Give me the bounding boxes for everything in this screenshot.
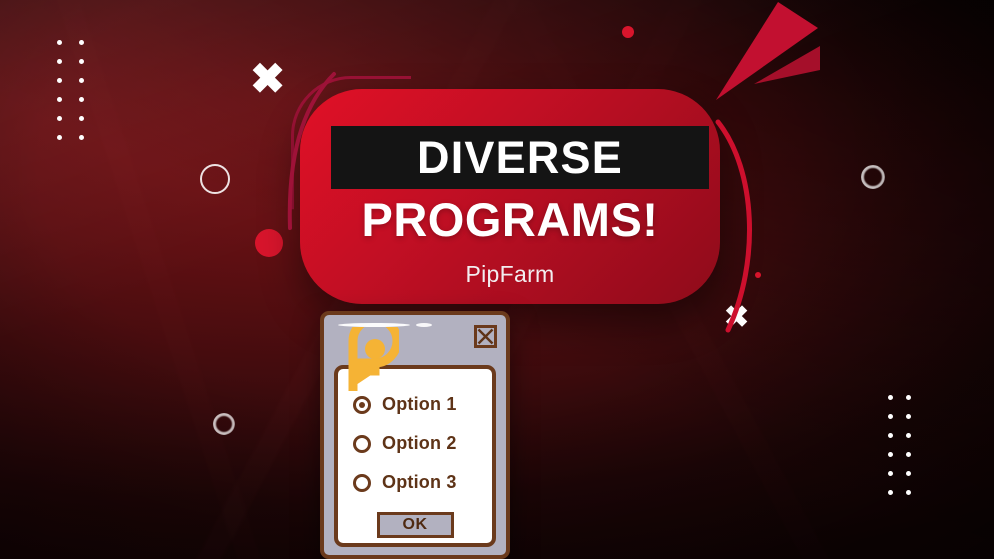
dialog-body: Option 1 Option 2 Option 3 OK [334, 365, 496, 547]
radio-label-option-1: Option 1 [382, 394, 457, 415]
radio-option-1[interactable]: Option 1 [338, 385, 492, 424]
headline-line2: PROGRAMS! [300, 196, 720, 243]
radio-icon-option-1[interactable] [353, 396, 371, 414]
options-dialog: Option 1 Option 2 Option 3 OK [320, 311, 510, 559]
brush-ring-left [213, 413, 235, 435]
circle-outline-decoration [200, 164, 230, 194]
close-button[interactable] [474, 325, 497, 348]
radio-option-3[interactable]: Option 3 [338, 463, 492, 502]
card-arc-right [712, 112, 772, 342]
headline-line1: DIVERSE [417, 132, 623, 184]
radio-label-option-2: Option 2 [382, 433, 457, 454]
dialog-footer: OK [338, 512, 492, 538]
brush-ring-right [861, 165, 885, 189]
close-x-icon [477, 328, 494, 345]
red-dot-top [622, 26, 634, 38]
dialog-titlebar[interactable] [324, 315, 506, 367]
poster-canvas: ✖ ✖ DIVERSE PROGRAMS! PipFarm [0, 0, 994, 559]
brand-name: PipFarm [300, 261, 720, 288]
headline-banner: DIVERSE [331, 126, 709, 189]
radio-label-option-3: Option 3 [382, 472, 457, 493]
titlebar-highlight-dot [416, 323, 432, 327]
radio-option-2[interactable]: Option 2 [338, 424, 492, 463]
triangle-decoration-lower [752, 42, 882, 112]
radio-icon-option-2[interactable] [353, 435, 371, 453]
dot-grid-top-left [57, 40, 85, 130]
dot-grid-bottom-right [888, 395, 916, 495]
ok-button[interactable]: OK [377, 512, 454, 538]
titlebar-highlight-stroke [338, 323, 410, 327]
radio-icon-option-3[interactable] [353, 474, 371, 492]
